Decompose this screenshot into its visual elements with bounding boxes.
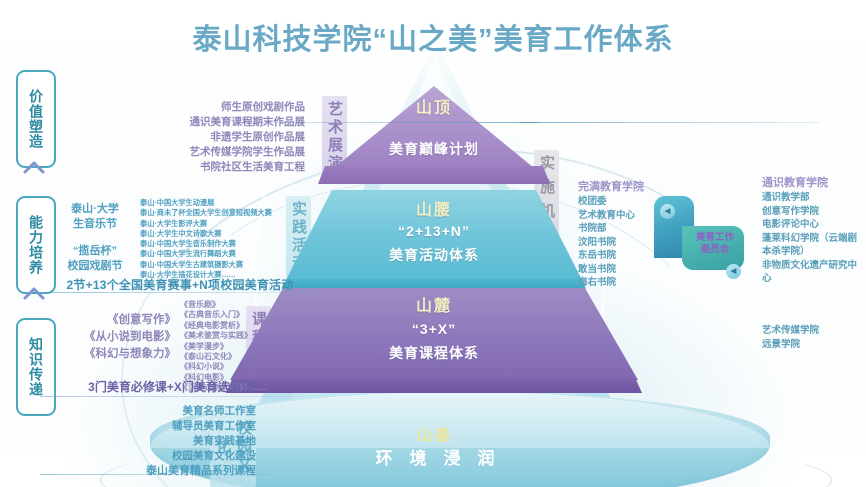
tier-middle-cap: 山腰	[286, 196, 582, 220]
list-item: 《美术鉴赏与实践》	[180, 331, 290, 341]
base-cap: 山基	[330, 424, 540, 445]
list-item: 泰山·大学生中文诗歌大赛	[140, 229, 306, 239]
list-item: 《从小说到电影》	[36, 329, 176, 346]
page-title: 泰山科技学院“山之美”美育工作体系	[0, 16, 866, 58]
infographic-canvas: 泰山科技学院“山之美”美育工作体系 价值塑造 能力培养 知识传递 艺术展演 实践…	[0, 0, 866, 487]
list-item: 《泰山石文化》	[180, 352, 290, 362]
meiyu-committee-badge[interactable]: ◄ ◄ 美育工作 委员会	[652, 196, 748, 288]
column-heading: 通识教育学院	[762, 176, 862, 191]
tier-lower-sub2: 美育课程体系	[230, 344, 638, 363]
rail-item-value[interactable]: 价值塑造	[16, 70, 56, 168]
list-item: 泰山·大学生影评大赛	[140, 219, 306, 229]
list-item: 生音乐节	[52, 217, 138, 232]
list-item: 蓬莱科幻学院（云端剧本杀学院）	[762, 232, 862, 259]
list-item: 《音乐剧》	[180, 300, 290, 310]
chevron-up-icon-2	[22, 286, 46, 304]
list-item: 《创意写作》	[36, 312, 176, 329]
badge-label: 美育工作 委员会	[686, 232, 744, 256]
pyramid-tier-middle-slab	[282, 279, 586, 289]
list-item: 《古典音乐入门》	[180, 310, 290, 320]
list-item: 电影评论中心	[762, 218, 862, 232]
divider-campus	[40, 474, 270, 475]
list-item: 艺术传媒学院	[762, 324, 862, 338]
course-summary: 3门美育必修课+X门美育选修课	[40, 378, 302, 395]
list-item: 通识教学部	[762, 191, 862, 205]
tier-top-sub: 美育巅峰计划	[334, 140, 534, 159]
practice-competition-list: 泰山·中国大学生动漫展 泰山·商未了杯全国大学生创意短视频大赛 泰山·大学生影评…	[140, 198, 306, 280]
column-heading: 完满教育学院	[578, 180, 674, 195]
badge-arrow-icon-2: ◄	[726, 264, 741, 279]
tier-middle-sub1: “2+13+N”	[286, 222, 582, 241]
list-item: 辅导员美育工作室	[44, 419, 256, 434]
list-item: 艺术传媒学院学生作品展	[60, 145, 305, 160]
divider-practice	[46, 292, 308, 293]
list-item: 泰山·大学	[52, 202, 138, 217]
list-item: “揽岳杯”	[52, 244, 138, 259]
org-column-tongshi: 通识教育学院 通识教学部 创意写作学院 电影评论中心 蓬莱科幻学院（云端剧本杀学…	[762, 176, 862, 286]
org-column-art-media: 艺术传媒学院 远景学院	[762, 324, 862, 351]
list-item: 泰山·商未了杯全国大学生创意短视频大赛	[140, 208, 306, 218]
pyramid-tier-top-slab	[318, 166, 550, 184]
badge-arrow-icon-1: ◄	[660, 204, 675, 219]
art-show-list: 师生原创戏剧作品 通识美育课程期末作品展 非遗学生原创作品展 艺术传媒学院学生作…	[60, 100, 305, 175]
list-item: 泰山·中国大学生流行舞蹈大赛	[140, 249, 306, 259]
list-item: 泰山·中国大学生音乐制作大赛	[140, 239, 306, 249]
tier-lower-cap: 山麓	[230, 292, 638, 316]
campus-culture-list: 美育名师工作室 辅导员美育工作室 美育实践基地 校园美育文化建设 泰山美育精品系…	[44, 404, 256, 479]
practice-summary: 2节+13个全国美育赛事+N项校园美育活动	[46, 276, 314, 293]
list-item: 美育名师工作室	[44, 404, 256, 419]
list-item: 远景学院	[762, 338, 862, 352]
list-item: 创意写作学院	[762, 205, 862, 219]
connector-rule-art-right	[520, 122, 820, 123]
badge-label-line2: 委员会	[686, 244, 744, 256]
base-sub: 环境浸润	[280, 444, 590, 469]
tier-lower-sub1: “3+X”	[230, 320, 638, 339]
list-item: 书院社区生活美育工程	[60, 160, 305, 175]
list-item: 泰山美育精品系列课程	[44, 464, 256, 479]
list-item: 师生原创戏剧作品	[60, 100, 305, 115]
practice-featured: 泰山·大学 生音乐节 “揽岳杯” 校园戏剧节	[52, 202, 138, 274]
list-item: 《经典电影赏析》	[180, 321, 290, 331]
list-item: 校园美育文化建设	[44, 449, 256, 464]
connector-rule-art	[170, 122, 540, 123]
tier-middle-sub2: 美育活动体系	[286, 246, 582, 265]
list-item: 《科幻小说》	[180, 362, 290, 372]
chevron-up-icon-1	[22, 160, 46, 178]
divider-course	[40, 396, 302, 397]
list-item: 美育实践基地	[44, 434, 256, 449]
list-item: 校园戏剧节	[52, 259, 138, 274]
list-item: 泰山·中国大学生古建筑摄影大赛	[140, 260, 306, 270]
list-item: 《科幻与想象力》	[36, 346, 176, 363]
badge-label-line1: 美育工作	[686, 232, 744, 244]
course-featured-list: 《创意写作》 《从小说到电影》 《科幻与想象力》	[36, 312, 176, 363]
list-item: 非物质文化遗产研究中心	[762, 259, 862, 286]
list-item: 非遗学生原创作品展	[60, 130, 305, 145]
list-item: 泰山·中国大学生动漫展	[140, 198, 306, 208]
list-item: 《美学漫步》	[180, 342, 290, 352]
